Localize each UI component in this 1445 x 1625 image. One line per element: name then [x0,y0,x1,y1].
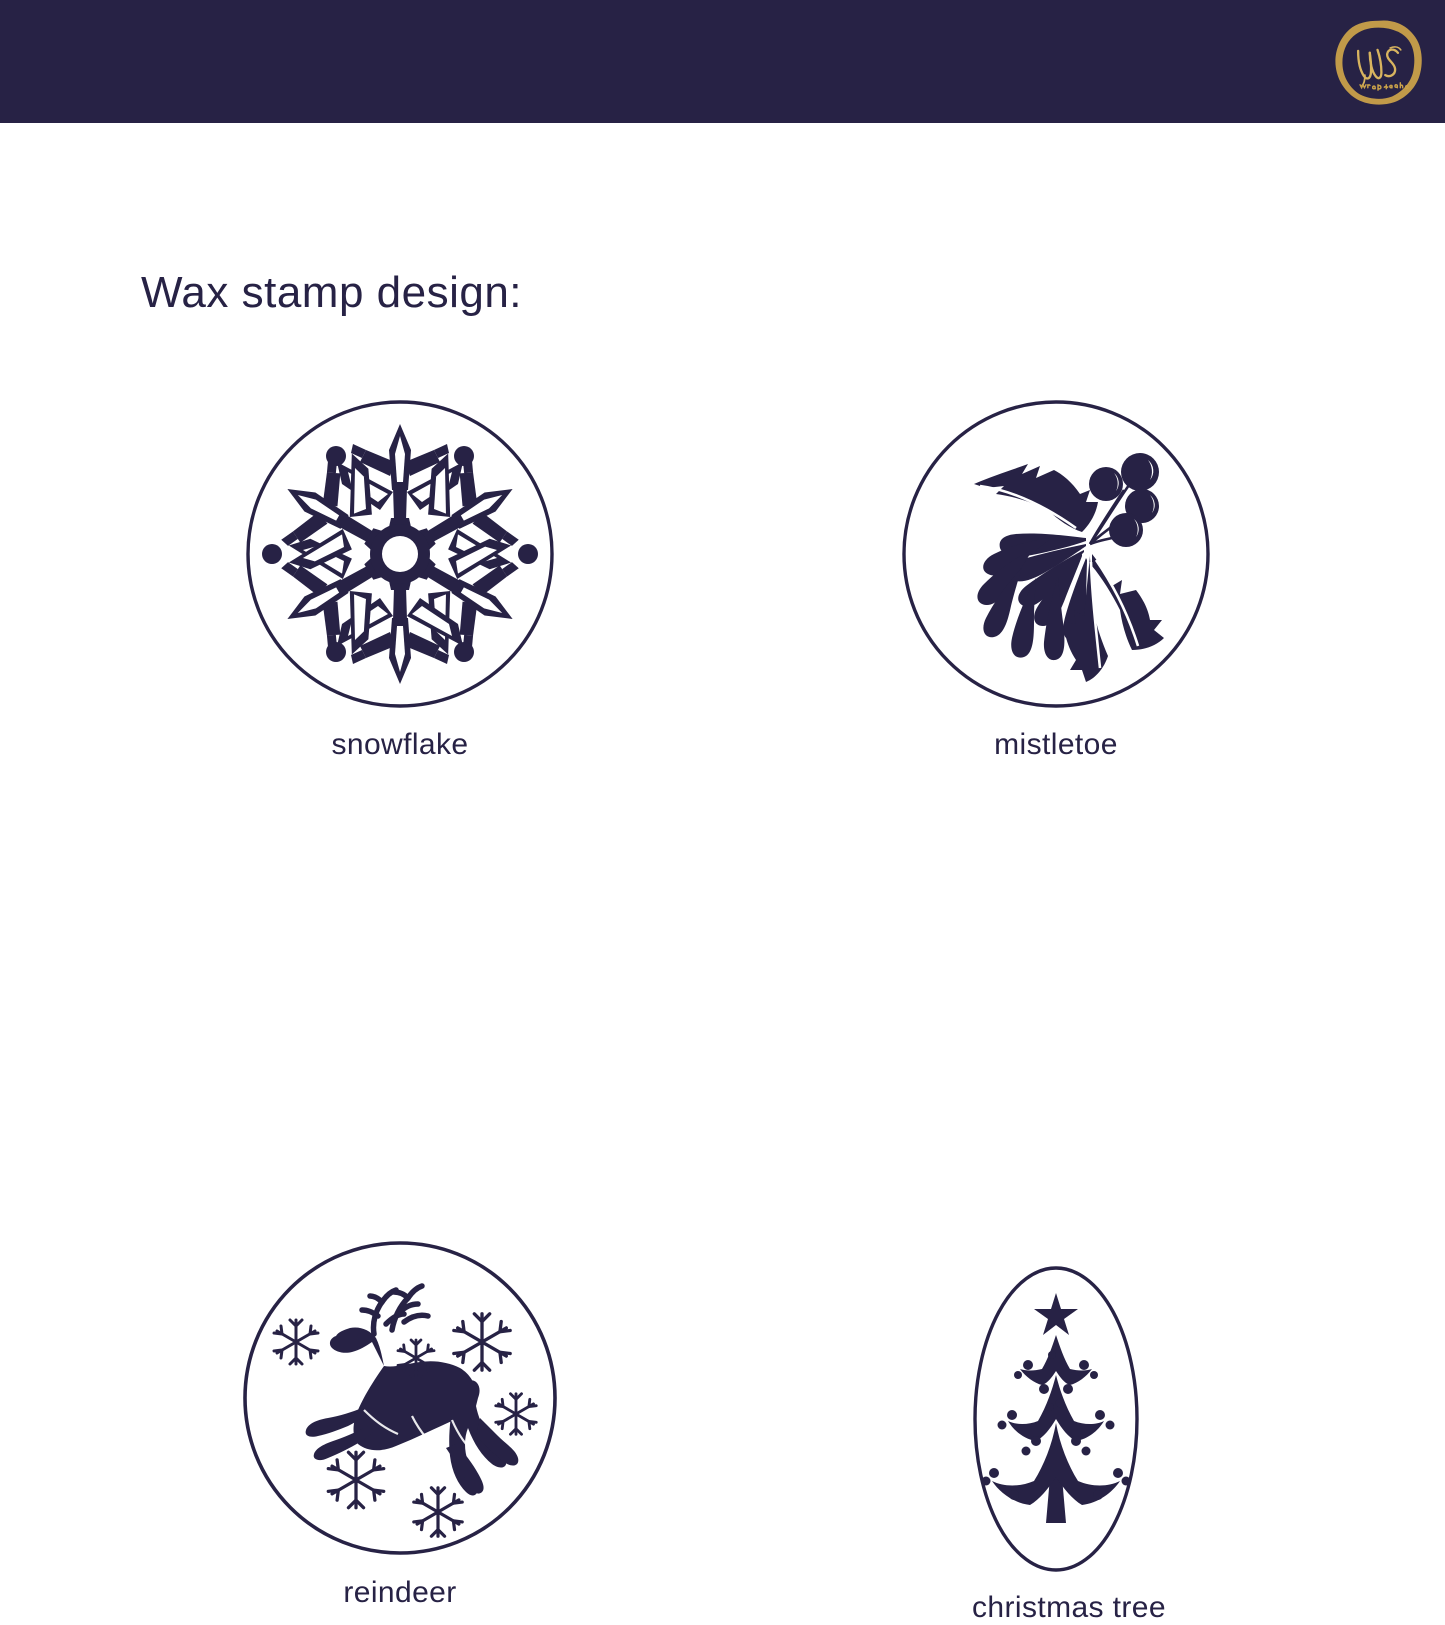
tree-silhouette [982,1293,1131,1523]
stamp-row: reindeer [0,800,1445,1220]
header-bar [0,0,1445,123]
stamp-item-reindeer[interactable]: reindeer [240,1238,560,1610]
reindeer-icon [240,1238,560,1558]
logo-mark [1330,14,1427,111]
stamp-item-snowflake[interactable]: snowflake [244,398,556,762]
stamp-label: snowflake [244,728,556,762]
page-title: Wax stamp design: [141,268,522,318]
stamp-label: mistletoe [900,728,1212,762]
stamp-grid: snowflake [0,380,1445,1220]
snowflake-icon [244,398,556,710]
wrap-and-seal-logo[interactable] [1330,14,1427,111]
stamp-label: reindeer [240,1576,560,1610]
stamp-item-mistletoe[interactable]: mistletoe [900,398,1212,762]
christmas-tree-icon [972,1265,1140,1573]
mistletoe-icon [900,398,1212,710]
stamp-item-christmas-tree[interactable]: christmas tree [972,1265,1140,1625]
stamp-label: christmas tree [972,1591,1140,1625]
stamp-row: snowflake [0,380,1445,800]
